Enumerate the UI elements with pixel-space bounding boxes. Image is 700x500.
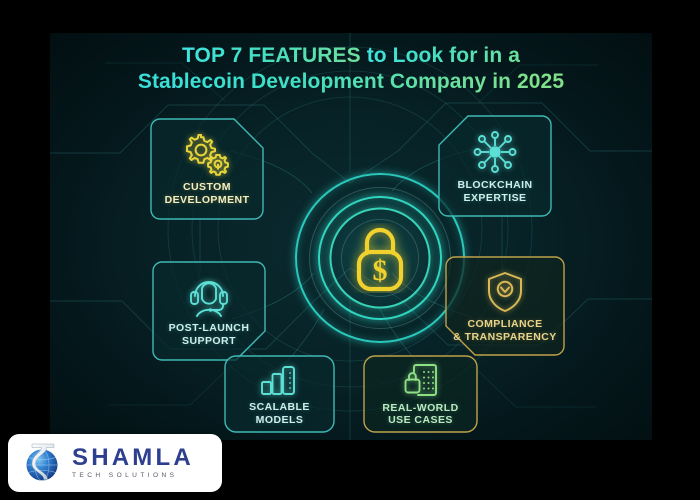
padlock-dollar-icon: $ bbox=[349, 223, 411, 293]
card-label: POST-LAUNCH SUPPORT bbox=[169, 322, 250, 347]
card-blockchain-expertise[interactable]: BLOCKCHAIN EXPERTISE bbox=[438, 115, 552, 217]
infographic-panel: TOP 7 FEATURES to Look for in a Stableco… bbox=[50, 33, 652, 440]
title-line-1-rest: to Look for in a bbox=[361, 44, 520, 67]
card-label: CUSTOM DEVELOPMENT bbox=[165, 181, 250, 206]
card-label: REAL-WORLD USE CASES bbox=[382, 402, 458, 427]
shamla-tech-logo[interactable]: SHAMLA TECH SOLUTIONS bbox=[8, 434, 222, 492]
card-compliance-transparency[interactable]: COMPLIANCE & TRANSPARENCY bbox=[445, 256, 565, 356]
card-label: SCALABLE MODELS bbox=[249, 401, 310, 426]
title-emphasis: TOP 7 FEATURES bbox=[182, 44, 361, 67]
lock-building-icon bbox=[401, 364, 441, 397]
title-line-1: TOP 7 FEATURES to Look for in a bbox=[50, 43, 652, 69]
page-title: TOP 7 FEATURES to Look for in a Stableco… bbox=[50, 43, 652, 96]
card-label: COMPLIANCE & TRANSPARENCY bbox=[453, 318, 557, 343]
card-scalable-models[interactable]: SCALABLE MODELS bbox=[224, 355, 335, 433]
infographic-stage: TOP 7 FEATURES to Look for in a Stableco… bbox=[0, 0, 700, 500]
shamla-globe-s-icon bbox=[21, 438, 63, 489]
network-nodes-icon bbox=[472, 130, 518, 174]
shield-check-icon bbox=[486, 271, 524, 313]
logo-name: SHAMLA bbox=[72, 446, 194, 470]
headset-support-icon bbox=[186, 277, 232, 317]
gears-icon bbox=[182, 134, 232, 176]
card-real-world-use-cases[interactable]: REAL-WORLD USE CASES bbox=[363, 355, 478, 433]
logo-tagline: TECH SOLUTIONS bbox=[72, 473, 194, 480]
card-label: BLOCKCHAIN EXPERTISE bbox=[457, 179, 532, 204]
bar-chart-icon bbox=[260, 364, 300, 396]
title-line-2: Stablecoin Development Company in 2025 bbox=[50, 69, 652, 95]
dollar-glyph: $ bbox=[373, 254, 388, 287]
card-post-launch-support[interactable]: POST-LAUNCH SUPPORT bbox=[152, 261, 266, 361]
card-custom-development[interactable]: CUSTOM DEVELOPMENT bbox=[150, 118, 264, 220]
